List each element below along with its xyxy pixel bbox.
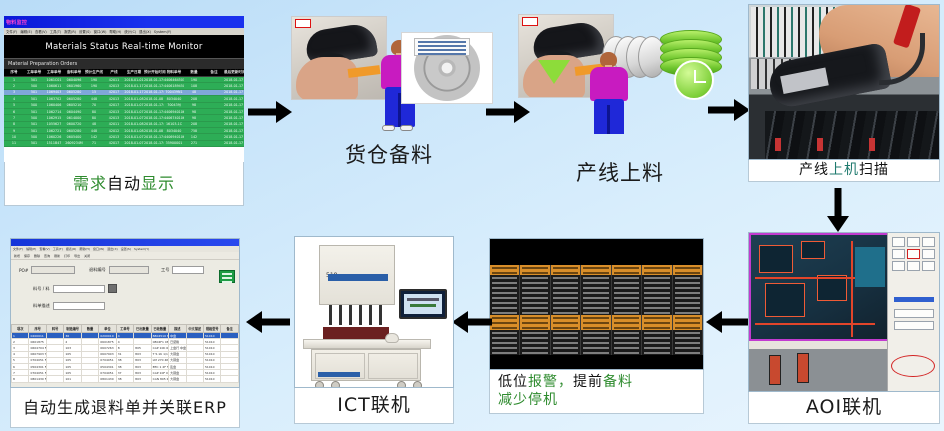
column-header: 中文描述: [186, 325, 203, 333]
aoi-button[interactable]: [922, 237, 935, 247]
table-cell: 2018-01-17 11:18: [224, 140, 244, 146]
worker-no-input[interactable]: [172, 266, 204, 274]
menu-item[interactable]: 窗口(W): [94, 29, 107, 34]
menu-item[interactable]: 查看(V): [39, 247, 49, 251]
table-cell: 51010: [203, 376, 220, 382]
arrow-right-3: [708, 98, 750, 122]
alarm-cell-text: [583, 267, 608, 269]
alarm-cell-text: [614, 337, 639, 339]
alarm-cell-text: [644, 347, 669, 349]
aoi-button[interactable]: [892, 261, 905, 271]
materials-monitor-screenshot: 物料监控 文件(F) 编辑(E) 查看(V) 工具(T) 报表(R) 设置(S)…: [4, 16, 244, 162]
column-header: 产线: [104, 69, 124, 77]
table-cell: 8: [12, 376, 29, 382]
column-header: 序号: [29, 325, 46, 333]
alarm-table-cell: [490, 350, 520, 355]
column-header: 工单单号: [24, 69, 44, 77]
alarm-cell-text: [553, 282, 578, 284]
table-cell: [46, 376, 63, 382]
alarm-cell-text: [675, 302, 700, 304]
alarm-cell-text: [583, 292, 608, 294]
alarm-cell-text: [522, 292, 547, 294]
alarm-cell-text: [675, 317, 700, 319]
alarm-cell-text: [644, 317, 669, 319]
alarm-cell-text: [492, 352, 517, 354]
arrow-head: [706, 311, 722, 333]
column-header: 料号: [46, 325, 63, 333]
aoi-field[interactable]: [894, 321, 934, 330]
alarm-cell-text: [644, 332, 669, 334]
column-header: 已收数量: [151, 325, 168, 333]
pcb-chip: [801, 241, 825, 259]
export-excel-icon[interactable]: [219, 270, 235, 283]
toolbar-button[interactable]: 新增: [14, 254, 20, 258]
alarm-cell-text: [522, 312, 547, 314]
return-no-input[interactable]: [109, 266, 149, 274]
pcb-inspection-image: [749, 233, 889, 341]
erp-form-area: PO# 退料编号 工号 料号 / 料 料单描述: [11, 260, 239, 324]
alarm-cell-text: [522, 287, 547, 289]
alarm-cell-text: [583, 312, 608, 314]
alarm-cell-text: [644, 337, 669, 339]
alarm-cell-text: [553, 342, 578, 344]
alarm-cell-text: [583, 272, 608, 274]
alarm-cell-text: [644, 342, 669, 344]
pcb-chip: [765, 283, 805, 317]
erp-titlebar: [11, 239, 239, 246]
aoi-lower-view: [749, 341, 889, 392]
menu-item[interactable]: 报表(R): [66, 247, 76, 251]
worker-figure: [590, 52, 630, 134]
alarm-cell-text: [614, 282, 639, 284]
ict-bench-top: [303, 339, 431, 349]
alarm-cell-text: [492, 342, 517, 344]
alarm-cell-text: [675, 287, 700, 289]
aoi-button[interactable]: [907, 261, 920, 271]
menu-item[interactable]: 工具(T): [53, 247, 63, 251]
alarm-cell-text: [644, 327, 669, 329]
step-demand-display: 物料监控 文件(F) 编辑(E) 查看(V) 工具(T) 报表(R) 设置(S)…: [4, 16, 244, 206]
alarm-cell-text: [614, 292, 639, 294]
column-header: 生产日期: [124, 69, 144, 77]
column-header: 备料单号: [64, 69, 84, 77]
alarm-cell-text: [614, 272, 639, 274]
worker-legs: [594, 99, 624, 134]
table-cell: CAN 805 RL1 4V 0V10 P10 507 6盘: [151, 376, 168, 382]
reel-label: [414, 38, 470, 56]
caption-segment: 扫描: [859, 162, 889, 178]
alarm-cell-text: [522, 327, 547, 329]
alarm-cell-text: [614, 327, 639, 329]
alarm-cell-text: [614, 352, 639, 354]
card-marker: [817, 138, 823, 151]
column-header: 工单号: [116, 325, 133, 333]
alarm-table-cell: [673, 350, 703, 355]
warehouse-picking-illustration: [283, 14, 495, 134]
alarm-cell-text: [553, 322, 578, 324]
alarm-cell-text: [675, 307, 700, 309]
aoi-software-screenshot: [748, 232, 940, 392]
alarm-cell-text: [553, 307, 578, 309]
caption-warehouse-picking: 货仓备料: [283, 134, 495, 176]
alarm-cell-text: [522, 307, 547, 309]
alarm-cell-text: [675, 277, 700, 279]
menu-item[interactable]: 设置(S): [79, 29, 91, 34]
caster-wheel: [413, 381, 422, 388]
alarm-cell-text: [522, 297, 547, 299]
alarm-cell-text: [675, 327, 700, 329]
component-reel-photo: [401, 32, 493, 104]
barcode-scanner-photo: [291, 16, 387, 100]
ict-machine-photo: 518: [294, 236, 454, 388]
arrow-shaft: [248, 109, 278, 116]
alarm-cell-text: [614, 287, 639, 289]
alarm-cell-text: [675, 312, 700, 314]
column-header: 已出数量: [134, 325, 151, 333]
column-header: 描述: [169, 325, 186, 333]
alarm-cell-text: [675, 347, 700, 349]
alarm-cell-text: [583, 337, 608, 339]
alarm-cell-text: [522, 282, 547, 284]
part-no-input[interactable]: [53, 285, 105, 293]
alarm-cell-text: [492, 327, 517, 329]
caption-segment: 产线: [799, 162, 829, 178]
arrow-head: [827, 216, 849, 232]
arrow-left-1: [706, 310, 748, 334]
step-ict-online: 518: [294, 236, 454, 424]
alarm-cell-text: [583, 302, 608, 304]
alarm-cell-text: [583, 322, 608, 324]
alarm-cell-text: [583, 342, 608, 344]
alarm-cell-text: [614, 277, 639, 279]
po-input[interactable]: [31, 266, 75, 274]
probe-pin: [339, 305, 342, 325]
arrow-shaft: [466, 319, 492, 326]
alarm-cell-text: [522, 277, 547, 279]
alarm-cell-text: [553, 347, 578, 349]
table-row[interactable]: 80801430 F044101080143038803CAN 805 RL1 …: [12, 376, 239, 382]
alarm-cell-text: [644, 287, 669, 289]
alarm-cell-text: [492, 287, 517, 289]
table-cell: [81, 376, 98, 382]
column-header: 工单单号: [44, 69, 64, 77]
toolbar-button[interactable]: 查询: [44, 254, 50, 258]
probe-pin: [329, 305, 332, 325]
alarm-cell-text: [492, 292, 517, 294]
step-line-scan: 产线上机扫描: [748, 4, 940, 182]
erp-toolbar[interactable]: 新增 保存 删除 查询 刷新 打印 导出 关闭: [11, 252, 239, 260]
alarm-cell-text: [553, 317, 578, 319]
alarm-cell-text: [553, 277, 578, 279]
alarm-cell-text: [553, 337, 578, 339]
alarm-cell-text: [553, 272, 578, 274]
alarm-cell-text: [583, 297, 608, 299]
field-label: 工号: [161, 267, 169, 273]
alarm-cell-text: [553, 302, 578, 304]
step-line-feeding: 产线上料: [514, 14, 726, 194]
column-header: 预计开始时间: [144, 69, 164, 77]
table-cell: 271: [184, 140, 204, 146]
caption-segment: 报警，: [528, 374, 573, 390]
caster-wheel: [397, 381, 406, 388]
aoi-status-bar: [894, 297, 934, 302]
alarm-cell-text: [583, 352, 608, 354]
alarm-cell-text: [583, 277, 608, 279]
menu-item[interactable]: 工具(T): [50, 29, 62, 34]
caption-segment: 上机: [829, 162, 859, 178]
table-cell: 71: [84, 140, 104, 146]
step-aoi-online: AOI联机: [748, 232, 940, 424]
menu-item[interactable]: 帮助(H): [79, 247, 90, 251]
clock-icon: [674, 60, 714, 100]
caption-erp-return: 自动生成退料单并关联ERP: [10, 388, 240, 428]
column-header: 规格型号: [203, 325, 220, 333]
arrow-down-right: [826, 188, 850, 232]
table-cell: 42017: [104, 140, 124, 146]
ict-test-fixture: [323, 327, 389, 339]
table-row[interactable]: 115011511B472609234M71420172018-01-07201…: [4, 140, 244, 146]
alarm-cell-text: [675, 292, 700, 294]
field-part-desc[interactable]: 料单描述: [33, 302, 105, 310]
column-header: 最后更新时间: [224, 69, 244, 77]
alarm-table-cell: [612, 350, 642, 355]
menu-item[interactable]: 文件(F): [13, 247, 23, 251]
cabinet-door-right[interactable]: [368, 353, 418, 379]
alarm-cell-text: [644, 277, 669, 279]
connector: [769, 355, 781, 385]
alarm-cell-text: [522, 337, 547, 339]
step-erp-return: 文件(F) 编辑(E) 查看(V) 工具(T) 报表(R) 帮助(H) 窗口(W…: [10, 238, 240, 428]
aoi-button[interactable]: [922, 261, 935, 271]
alarm-cell-text: [614, 317, 639, 319]
arrow-head: [452, 311, 468, 333]
alarm-cell-text: [553, 297, 578, 299]
monitor-window-title: 物料监控: [4, 19, 27, 26]
line-feeding-illustration: [514, 14, 726, 134]
column-header: 数量: [81, 325, 98, 333]
alarm-cell-text: [492, 267, 517, 269]
table-cell: [204, 140, 224, 146]
menu-item[interactable]: 编辑(E): [26, 247, 36, 251]
alarm-cell-text: [583, 317, 608, 319]
alarm-cell-text: [553, 292, 578, 294]
alarm-cell-text: [553, 352, 578, 354]
field-label: 退料编号: [89, 267, 106, 273]
aoi-toolbar-strip: [749, 341, 889, 349]
alarm-cell-text: [644, 352, 669, 354]
alarm-cell-text: [522, 272, 547, 274]
monitor-header-title: Materials Status Real-time Monitor: [4, 35, 244, 58]
table-cell: 803: [134, 376, 151, 382]
pcb-region: [855, 247, 885, 287]
alarm-cell-text: [644, 322, 669, 324]
menu-item[interactable]: System(Y): [154, 30, 171, 34]
alarm-cell-text: [553, 287, 578, 289]
menu-item[interactable]: 帮助(H): [109, 29, 121, 34]
probe-pin: [369, 305, 372, 325]
alarm-cell-text: [583, 332, 608, 334]
column-header: 序号: [4, 69, 24, 77]
menu-item[interactable]: 报表(R): [64, 29, 76, 34]
column-header: 备注: [221, 325, 239, 333]
aoi-field[interactable]: [894, 309, 934, 318]
monitor-window-titlebar: 物料监控: [4, 16, 244, 28]
alarm-cell-text: [644, 297, 669, 299]
alarm-cell-text: [522, 347, 547, 349]
pcb-card-row: [765, 111, 940, 159]
green-down-arrow-icon: [538, 60, 570, 84]
field-part-no[interactable]: 料号 / 料: [33, 284, 117, 293]
alarm-cell-text: [492, 297, 517, 299]
arrow-shaft: [708, 107, 736, 114]
menu-item[interactable]: 统计(C): [124, 29, 136, 34]
red-tag: [522, 17, 538, 26]
worker-shoe-left: [382, 125, 395, 131]
column-header: 项次: [12, 325, 29, 333]
alarm-cell-text: [492, 347, 517, 349]
toolbar-button[interactable]: 删除: [34, 254, 40, 258]
alarm-cell-text: [553, 332, 578, 334]
alarm-cell-text: [522, 322, 547, 324]
probe-pin: [359, 305, 362, 325]
alarm-table-screenshot: [489, 238, 704, 370]
menu-item[interactable]: 编辑(E): [20, 29, 32, 34]
alarm-cell-text: [553, 327, 578, 329]
caption-segment: 显示: [141, 174, 175, 193]
line-scan-photo: [748, 4, 940, 160]
caption-segment: 低位: [498, 374, 528, 390]
alarm-table-body: [490, 265, 703, 355]
menu-item[interactable]: 退出(X): [107, 247, 117, 251]
alarm-cell-text: [644, 292, 669, 294]
alarm-cell-text: [614, 332, 639, 334]
alarm-cell-text: [614, 297, 639, 299]
alarm-cell-text: [492, 282, 517, 284]
alarm-cell-text: [553, 267, 578, 269]
toolbar-button[interactable]: 刷新: [54, 254, 60, 258]
toolbar-button[interactable]: 导出: [74, 254, 80, 258]
ict-blue-stripe: [328, 274, 388, 281]
ict-cabinet-stripe: [318, 372, 360, 377]
alarm-cell-text: [675, 297, 700, 299]
menu-item[interactable]: 文件(F): [6, 29, 17, 34]
lookup-button[interactable]: [108, 284, 117, 293]
monitor-subheader: Material Preparation Orders: [4, 58, 244, 69]
aoi-button[interactable]: [892, 237, 905, 247]
toolbar-button[interactable]: 保存: [24, 254, 30, 258]
table-cell: 0801430: [99, 376, 116, 382]
table-cell: 1511B47: [44, 140, 64, 146]
field-label: PO#: [19, 268, 28, 273]
alarm-cell-text: [675, 342, 700, 344]
field-po[interactable]: PO#: [19, 266, 75, 274]
caption-demand-display: 需求自动显示: [4, 162, 244, 206]
ict-head-unit: 518: [319, 245, 395, 305]
field-label: 料号 / 料: [33, 286, 50, 292]
erp-form-screenshot: 文件(F) 编辑(E) 查看(V) 工具(T) 报表(R) 帮助(H) 窗口(W…: [10, 238, 240, 388]
alarm-cell-text: [614, 307, 639, 309]
ict-mouse: [385, 333, 399, 343]
caption-segment: 备料: [603, 374, 633, 390]
alarm-cell-text: [492, 337, 517, 339]
menu-item[interactable]: 退出(X): [139, 29, 151, 34]
field-return-no[interactable]: 退料编号: [89, 266, 149, 274]
pcb-chip: [759, 245, 793, 273]
probe-pin: [349, 305, 352, 325]
ict-cabinet: [311, 349, 421, 381]
arrow-shaft: [486, 109, 516, 116]
menu-item[interactable]: 设置(S): [121, 247, 131, 251]
menu-item[interactable]: System(Y): [134, 247, 149, 251]
materials-table[interactable]: 序号工单单号工单单号备料单号预计生产线产线生产日期预计开始时间物料单号数量备注最…: [4, 69, 244, 147]
aoi-button[interactable]: [907, 237, 920, 247]
alarm-cell-text: [583, 307, 608, 309]
alarm-cell-text: [614, 302, 639, 304]
aoi-button[interactable]: [892, 249, 905, 259]
arrow-left-3: [246, 310, 290, 334]
alarm-cell-text: [492, 272, 517, 274]
red-tag: [295, 19, 311, 28]
table-cell: 501: [24, 140, 44, 146]
column-header: 单位: [99, 325, 116, 333]
menu-item[interactable]: 窗口(W): [93, 247, 104, 251]
monitor-menubar[interactable]: 文件(F) 编辑(E) 查看(V) 工具(T) 报表(R) 设置(S) 窗口(W…: [4, 28, 244, 35]
caption-segment: 需求: [73, 174, 107, 193]
alarm-cell-text: [614, 322, 639, 324]
flow-diagram-canvas: 物料监控 文件(F) 编辑(E) 查看(V) 工具(T) 报表(R) 设置(S)…: [0, 0, 944, 431]
step-low-stock-alarm: 低位报警，提前备料 减少停机: [489, 238, 704, 414]
table-cell: 2018-01-17:00: [144, 140, 164, 146]
column-header: 制造编号: [64, 325, 81, 333]
alarm-cell-text: [583, 347, 608, 349]
menu-item[interactable]: 查看(V): [35, 29, 47, 34]
alarm-cell-text: [583, 287, 608, 289]
pcb-trace: [755, 323, 875, 325]
red-highlight-ellipse: [891, 355, 935, 377]
ict-monitor-screen: [404, 294, 442, 314]
caption-aoi-online: AOI联机: [748, 392, 940, 424]
alarm-cell-text: [614, 347, 639, 349]
table-cell: 38: [116, 376, 133, 382]
part-desc-input[interactable]: [53, 302, 105, 310]
hand: [296, 57, 358, 100]
erp-detail-table[interactable]: 项次序号料号制造编号数量单位工单号已出数量已收数量描述中文描述规格型号备注 10…: [11, 324, 239, 383]
aoi-button-selected[interactable]: [907, 249, 920, 259]
caster-wheel: [315, 381, 324, 388]
alarm-cell-text: [583, 327, 608, 329]
alarm-cell-text: [583, 282, 608, 284]
column-header: 物料单号: [164, 69, 184, 77]
pcb-trace: [851, 241, 853, 337]
column-header: 预计生产线: [84, 69, 104, 77]
table-cell: 2018-01-07: [124, 140, 144, 146]
toolbar-button[interactable]: 打印: [64, 254, 70, 258]
alarm-cell-text: [522, 317, 547, 319]
caster-wheel: [331, 381, 340, 388]
caption-segment: 提前: [573, 374, 603, 390]
field-worker-no[interactable]: 工号: [161, 266, 204, 274]
probe-pin: [379, 305, 382, 325]
scanner-label: [780, 68, 829, 94]
alarm-cell-text: [675, 267, 700, 269]
alarm-cell-text: [522, 342, 547, 344]
alarm-cell-text: [644, 272, 669, 274]
alarm-cell-text: [553, 312, 578, 314]
caption-ict-online: ICT联机: [294, 388, 454, 424]
aoi-button[interactable]: [922, 249, 935, 259]
column-header: 备注: [204, 69, 224, 77]
toolbar-button[interactable]: 关闭: [84, 254, 90, 258]
